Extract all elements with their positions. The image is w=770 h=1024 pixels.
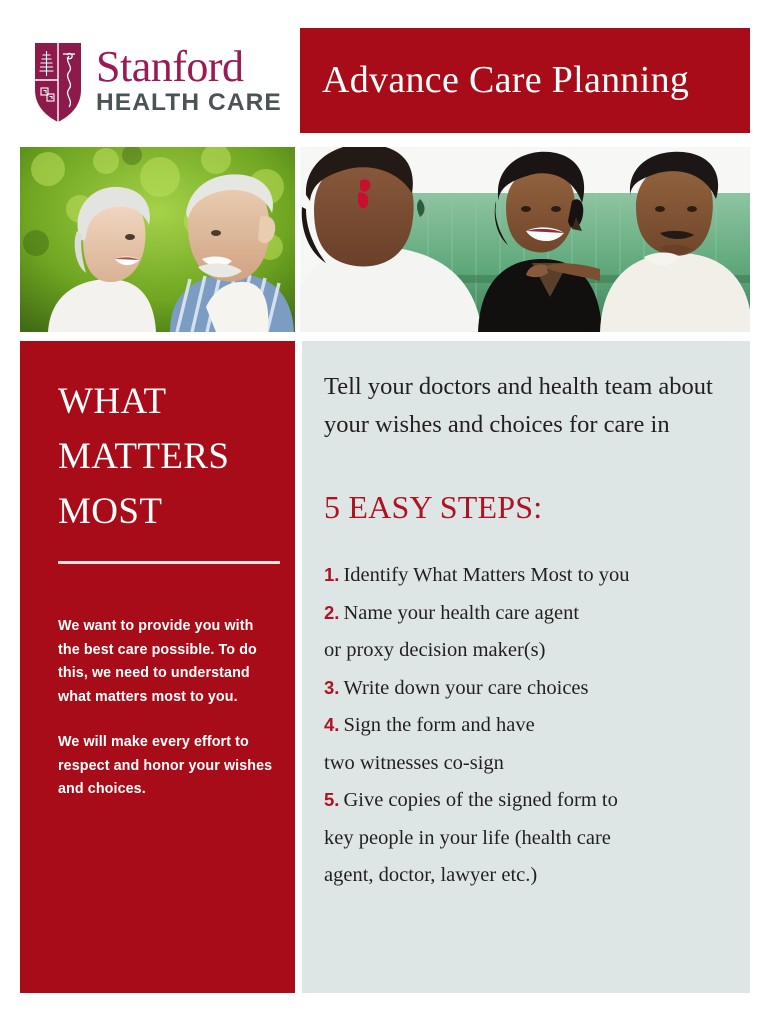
- step-text-5-line-1: Give copies of the signed form to: [343, 789, 617, 811]
- step-text-4-line-1: Sign the form and have: [343, 714, 534, 736]
- step-text-5-line-3: agent, doctor, lawyer etc.): [324, 864, 537, 886]
- step-text-3-line-1: Write down your care choices: [343, 677, 588, 699]
- step-number-4: 4.: [324, 714, 339, 735]
- step-item-5: 5.Give copies of the signed form to: [324, 782, 734, 820]
- step-number-5: 5.: [324, 789, 339, 810]
- steps-title: 5 EASY STEPS:: [324, 489, 542, 526]
- flyer-page: Stanford HEALTH CARE Advance Care Planni…: [0, 0, 770, 1024]
- left-panel-body: We want to provide you with the best car…: [58, 615, 278, 802]
- stanford-health-care-logo: Stanford HEALTH CARE: [20, 28, 295, 133]
- left-paragraph-1: We want to provide you with the best car…: [58, 615, 278, 709]
- stanford-shield-icon: [34, 42, 82, 124]
- header-band: Advance Care Planning: [300, 28, 750, 133]
- step-item-3: 3.Write down your care choices: [324, 670, 734, 708]
- step-item-1: 1.Identify What Matters Most to you: [324, 557, 734, 595]
- step-item-4: 4.Sign the form and have: [324, 707, 734, 745]
- step-item-2: 2.Name your health care agent: [324, 595, 734, 633]
- logo-wordmark: Stanford HEALTH CARE: [96, 45, 282, 117]
- what-matters-most-heading: WHAT MATTERS MOST: [58, 374, 278, 539]
- what-matters-most-panel: WHAT MATTERS MOST We want to provide you…: [20, 341, 295, 993]
- step-text-5-line-2: key people in your life (health care: [324, 827, 611, 849]
- step-number-2: 2.: [324, 602, 339, 623]
- heading-line-1: WHAT: [58, 374, 278, 429]
- step-text-1-line-1: Identify What Matters Most to you: [343, 564, 629, 586]
- five-easy-steps-panel: Tell your doctors and health team about …: [302, 341, 750, 993]
- step-item-2-continued: or proxy decision maker(s): [324, 632, 734, 670]
- wordmark-stanford: Stanford: [96, 45, 282, 88]
- intro-text: Tell your doctors and health team about …: [324, 368, 724, 445]
- heading-line-2: MATTERS: [58, 429, 278, 484]
- step-text-2-line-2: or proxy decision maker(s): [324, 639, 545, 661]
- step-number-3: 3.: [324, 677, 339, 698]
- left-paragraph-2: We will make every effort to respect and…: [58, 731, 278, 802]
- step-item-5-continued-1: key people in your life (health care: [324, 820, 734, 858]
- photo-clinician-with-couple: [300, 147, 750, 332]
- heading-line-3: MOST: [58, 484, 278, 539]
- step-text-2-line-1: Name your health care agent: [343, 602, 579, 624]
- page-title: Advance Care Planning: [322, 58, 689, 102]
- wordmark-health-care: HEALTH CARE: [96, 89, 282, 117]
- step-item-4-continued: two witnesses co-sign: [324, 745, 734, 783]
- step-number-1: 1.: [324, 564, 339, 585]
- step-text-4-line-2: two witnesses co-sign: [324, 752, 504, 774]
- photo-senior-couple-outdoors: [20, 147, 295, 332]
- step-item-5-continued-2: agent, doctor, lawyer etc.): [324, 857, 734, 895]
- steps-list: 1.Identify What Matters Most to you 2.Na…: [324, 557, 734, 895]
- divider: [58, 561, 280, 564]
